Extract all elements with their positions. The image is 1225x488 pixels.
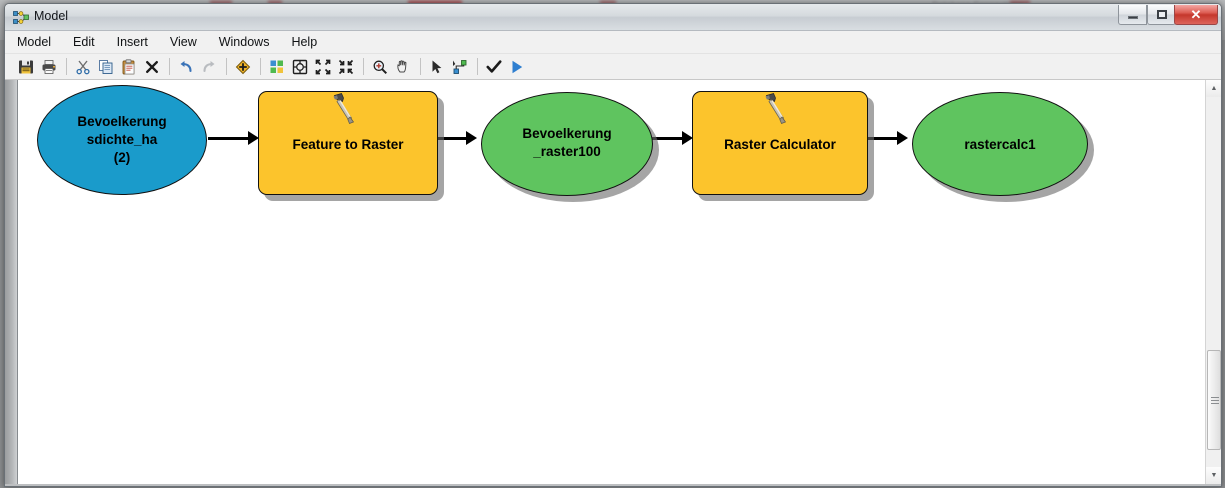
horizontal-scrollbar-thumb[interactable] (215, 486, 815, 487)
menu-windows[interactable]: Windows (219, 32, 281, 52)
toolbar-separator (169, 58, 170, 75)
menu-bar: Model Edit Insert View Windows Help (5, 31, 1221, 54)
restore-icon (1148, 5, 1175, 24)
menu-model[interactable]: Model (17, 32, 62, 52)
pan-hand-icon[interactable] (392, 56, 414, 78)
output-variable-ellipse (912, 92, 1088, 196)
menu-help[interactable]: Help (291, 32, 328, 52)
model-window: Model ✕ Model Edit Insert View Windows H… (4, 3, 1222, 487)
connect-tool-icon[interactable] (449, 56, 471, 78)
model-canvas[interactable]: Bevoelkerung sdichte_ha (2) Feature to (17, 80, 1207, 484)
node-output-bevoelkerung-raster100[interactable]: Bevoelkerung _raster100 (469, 80, 665, 208)
menu-view[interactable]: View (170, 32, 208, 52)
delete-x-icon[interactable] (141, 56, 163, 78)
title-bar[interactable]: Model ✕ (5, 4, 1221, 31)
paste-icon[interactable] (118, 56, 140, 78)
cut-scissors-icon[interactable] (72, 56, 94, 78)
validate-check-icon[interactable] (483, 56, 505, 78)
status-strip (5, 484, 1221, 486)
restore-button[interactable] (1147, 5, 1176, 25)
window-title: Model (34, 9, 68, 23)
magnifier-plus-icon[interactable] (369, 56, 391, 78)
scroll-down-arrow-icon[interactable]: ▼ (1206, 467, 1222, 484)
run-play-icon[interactable] (506, 56, 528, 78)
toolbar-separator (477, 58, 478, 75)
model-diagram-icon (13, 10, 29, 26)
canvas-left-gutter (5, 80, 17, 484)
vertical-scrollbar-thumb[interactable] (1207, 350, 1221, 450)
hammer-tool-icon (761, 92, 791, 126)
toolbar (5, 54, 1221, 80)
vertical-scrollbar[interactable]: ▲ ▼ (1205, 80, 1221, 484)
copy-icon[interactable] (95, 56, 117, 78)
connector-input-to-feature-to-raster (208, 137, 250, 140)
canvas-area: Bevoelkerung sdichte_ha (2) Feature to (5, 80, 1221, 484)
undo-arrow-icon[interactable] (175, 56, 197, 78)
output-variable-ellipse (481, 92, 653, 196)
scroll-up-arrow-icon[interactable]: ▲ (1206, 80, 1222, 97)
input-variable-ellipse (37, 85, 207, 195)
zoom-out-corners-icon[interactable] (312, 56, 334, 78)
minimize-icon (1119, 5, 1146, 24)
auto-layout-icon[interactable] (266, 56, 288, 78)
close-icon: ✕ (1175, 5, 1217, 24)
close-button[interactable]: ✕ (1174, 5, 1218, 25)
toolbar-separator (260, 58, 261, 75)
toolbar-separator (226, 58, 227, 75)
add-data-diamond-icon[interactable] (232, 56, 254, 78)
zoom-in-corners-icon[interactable] (335, 56, 357, 78)
redo-arrow-icon[interactable] (198, 56, 220, 78)
minimize-button[interactable] (1118, 5, 1147, 25)
hammer-tool-icon (329, 92, 359, 126)
toolbar-separator (363, 58, 364, 75)
save-icon[interactable] (15, 56, 37, 78)
menu-edit[interactable]: Edit (73, 32, 106, 52)
print-icon[interactable] (38, 56, 60, 78)
toolbar-separator (66, 58, 67, 75)
full-extent-icon[interactable] (289, 56, 311, 78)
toolbar-separator (420, 58, 421, 75)
node-input-bevoelkerungsdichte[interactable]: Bevoelkerung sdichte_ha (2) (37, 80, 213, 200)
scrollbar-grip (1211, 397, 1219, 404)
node-tool-feature-to-raster[interactable]: Feature to Raster (250, 80, 446, 208)
node-output-rastercalc1[interactable]: rastercalc1 (900, 80, 1100, 208)
select-arrow-icon[interactable] (426, 56, 448, 78)
menu-insert[interactable]: Insert (117, 32, 159, 52)
node-tool-raster-calculator[interactable]: Raster Calculator (684, 80, 880, 208)
